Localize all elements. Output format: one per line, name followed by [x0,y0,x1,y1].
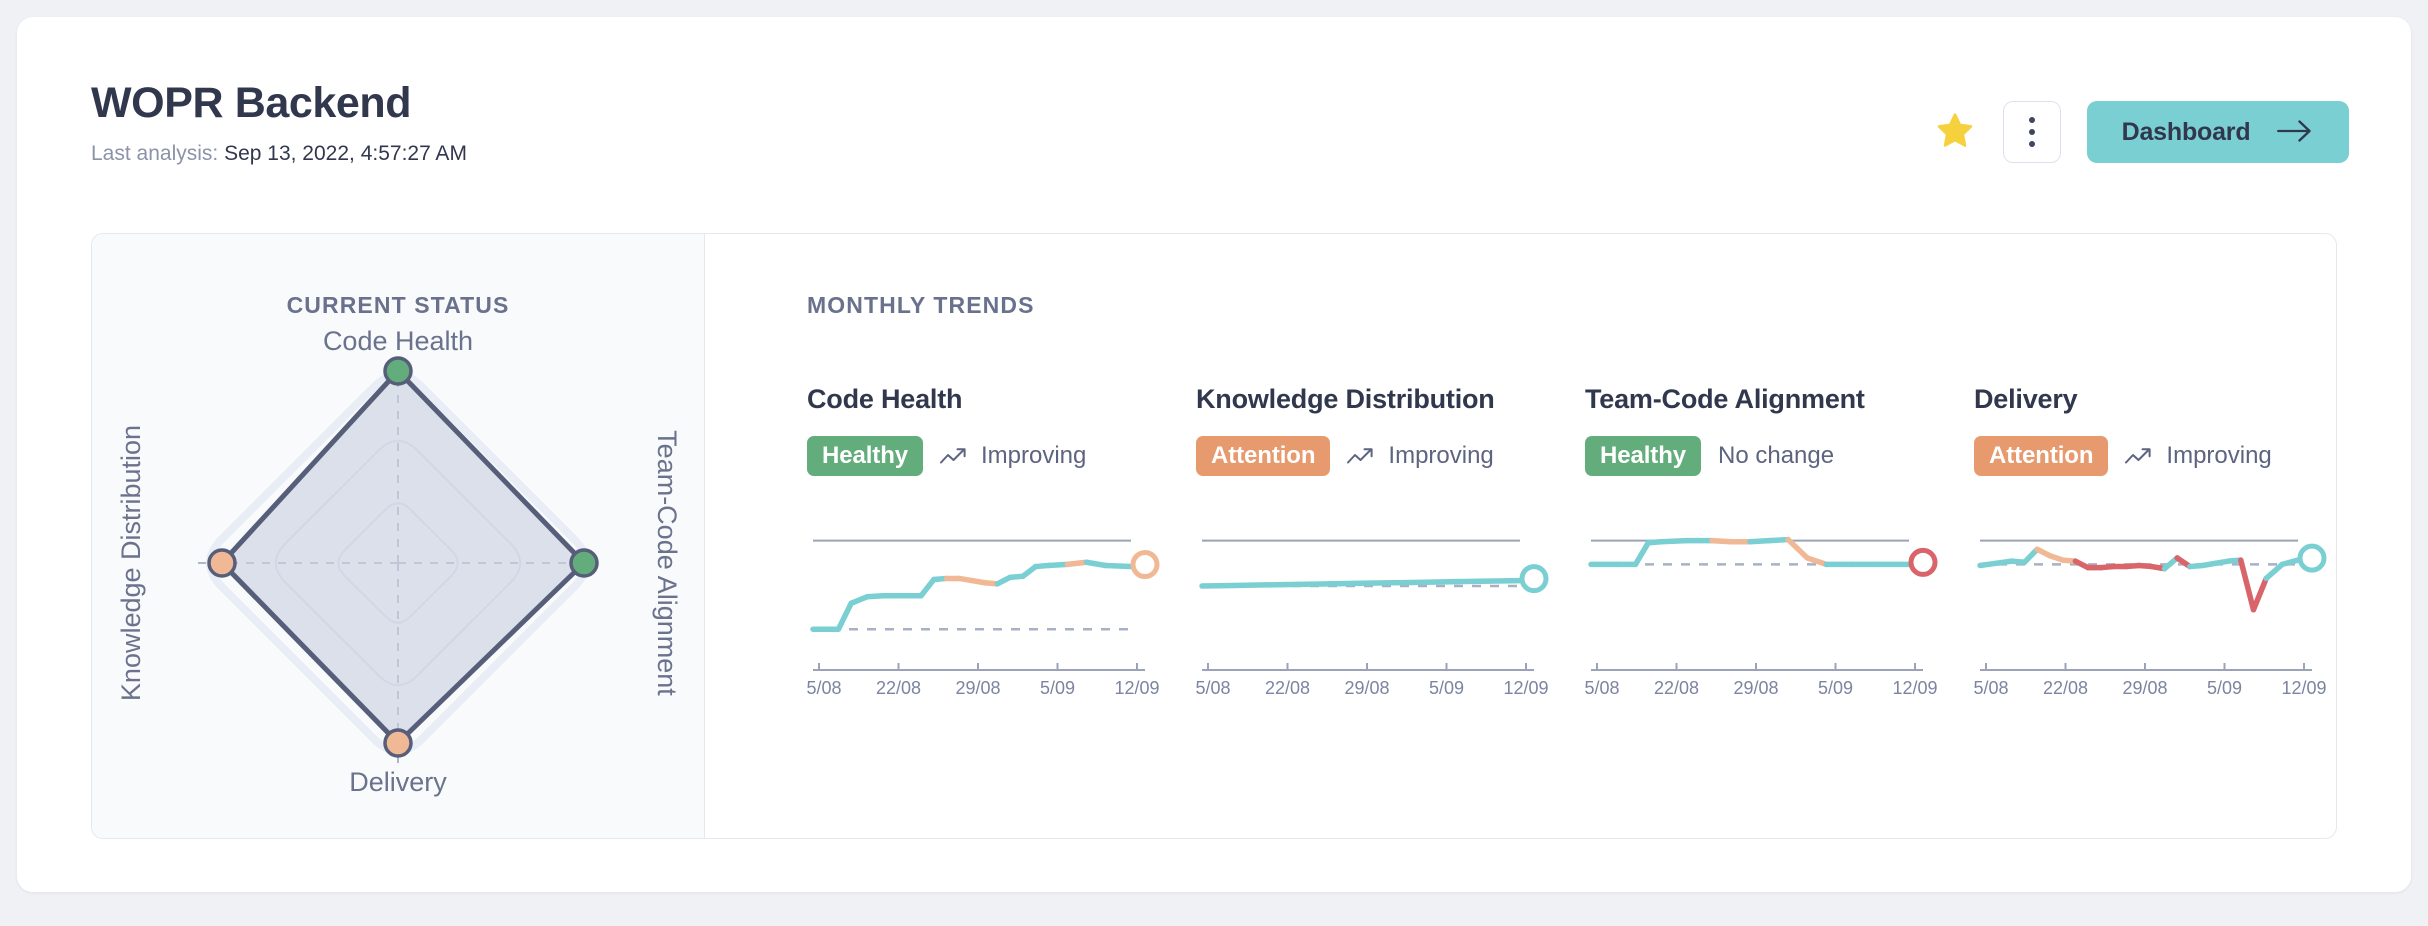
current-status-panel: CURRENT STATUS Code HealthTeam-Code Alig… [92,234,705,838]
insights-card: CURRENT STATUS Code HealthTeam-Code Alig… [91,233,2337,839]
header-title-block: WOPR Backend Last analysis: Sep 13, 2022… [91,81,467,164]
dashboard-button[interactable]: Dashboard [2087,101,2349,163]
x-tick-label: 12/09 [1503,678,1548,698]
trend-card-title: Delivery [1974,384,2337,415]
last-analysis: Last analysis: Sep 13, 2022, 4:57:27 AM [91,143,467,164]
x-tick-label: 5/09 [1040,678,1075,698]
trend-card-title: Code Health [807,384,1196,415]
trend-card-list: Code HealthHealthyImproving15/0822/0829/… [807,384,2296,707]
last-analysis-label: Last analysis: [91,142,218,165]
x-tick-label: 15/08 [807,678,842,698]
sparkline-chart: 15/0822/0829/085/0912/09 [1974,522,2337,707]
svg-text:Team-Code Alignment: Team-Code Alignment [652,430,682,696]
status-badge: Attention [1974,436,2108,476]
trend-card-meta: HealthyNo change [1585,436,1974,476]
sparkline-chart: 15/0822/0829/085/0912/09 [1585,522,1974,707]
arrow-right-icon [2276,118,2314,147]
trend-card-title: Team-Code Alignment [1585,384,1974,415]
trend-card-meta: AttentionImproving [1196,436,1585,476]
x-tick-label: 12/09 [2281,678,2326,698]
star-icon [1935,112,1975,153]
status-badge: Attention [1196,436,1330,476]
monthly-trends-heading: MONTHLY TRENDS [807,292,2336,319]
sparkline-chart: 15/0822/0829/085/0912/09 [807,522,1196,707]
trend-change-label: Improving [981,442,1086,470]
trend-change: No change [1718,442,1834,470]
x-tick-label: 12/09 [1892,678,1937,698]
x-tick-label: 22/08 [876,678,921,698]
x-tick-label: 12/09 [1114,678,1159,698]
page-title: WOPR Backend [91,81,467,127]
trend-up-icon [2125,446,2155,466]
x-tick-label: 15/08 [1585,678,1620,698]
current-status-heading: CURRENT STATUS [92,292,704,319]
app-card: WOPR Backend Last analysis: Sep 13, 2022… [17,17,2411,892]
more-options-button[interactable] [2003,101,2061,163]
trend-change-label: Improving [2166,442,2271,470]
trend-card-title: Knowledge Distribution [1196,384,1585,415]
x-tick-label: 5/09 [1818,678,1853,698]
x-tick-label: 29/08 [2122,678,2167,698]
more-vertical-icon [2029,117,2035,147]
trend-card[interactable]: Team-Code AlignmentHealthyNo change15/08… [1585,384,1974,707]
svg-text:Delivery: Delivery [349,767,447,797]
x-tick-label: 15/08 [1974,678,2009,698]
page-background: WOPR Backend Last analysis: Sep 13, 2022… [0,0,2428,926]
x-tick-label: 22/08 [1265,678,1310,698]
card-bottom-strip [17,839,2411,892]
radar-chart: Code HealthTeam-Code AlignmentDeliveryKn… [92,328,704,798]
monthly-trends-panel: MONTHLY TRENDS Code HealthHealthyImprovi… [705,234,2336,838]
x-tick-label: 5/09 [2207,678,2242,698]
x-tick-label: 29/08 [955,678,1000,698]
trend-up-icon [940,446,970,466]
sparkline-chart: 15/0822/0829/085/0912/09 [1196,522,1585,707]
last-analysis-value: Sep 13, 2022, 4:57:27 AM [224,142,467,165]
status-badge: Healthy [807,436,923,476]
dashboard-button-label: Dashboard [2122,118,2251,147]
trend-change-label: No change [1718,442,1834,470]
x-tick-label: 5/09 [1429,678,1464,698]
x-tick-label: 15/08 [1196,678,1231,698]
trend-card[interactable]: Code HealthHealthyImproving15/0822/0829/… [807,384,1196,707]
x-tick-label: 22/08 [1654,678,1699,698]
header-actions: Dashboard [1933,101,2349,163]
svg-text:Knowledge Distribution: Knowledge Distribution [116,425,146,701]
trend-card-meta: AttentionImproving [1974,436,2337,476]
x-tick-label: 29/08 [1344,678,1389,698]
trend-card[interactable]: DeliveryAttentionImproving15/0822/0829/0… [1974,384,2337,707]
x-tick-label: 22/08 [2043,678,2088,698]
trend-change: Improving [2125,442,2271,470]
trend-up-icon [1347,446,1377,466]
trend-card-meta: HealthyImproving [807,436,1196,476]
svg-text:Code Health: Code Health [323,328,473,356]
favorite-button[interactable] [1933,110,1977,154]
trend-card[interactable]: Knowledge DistributionAttentionImproving… [1196,384,1585,707]
status-badge: Healthy [1585,436,1701,476]
trend-change: Improving [1347,442,1493,470]
page-header: WOPR Backend Last analysis: Sep 13, 2022… [17,17,2411,214]
x-tick-label: 29/08 [1733,678,1778,698]
trend-change-label: Improving [1388,442,1493,470]
trend-change: Improving [940,442,1086,470]
